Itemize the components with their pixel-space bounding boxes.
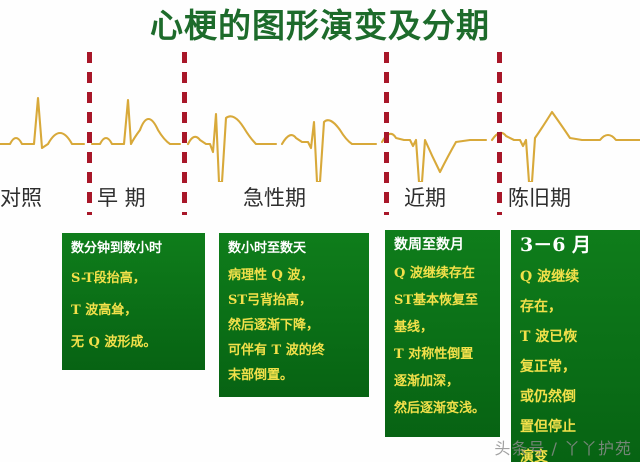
info-box-recent-line-1: Q 波继续存在 xyxy=(394,260,492,287)
stage-label-recent: 近期 xyxy=(404,185,446,211)
info-box-acute-line-1: 病理性 Q 波， xyxy=(228,263,361,288)
divider-acute-recent xyxy=(384,52,389,215)
info-box-early: 数分钟到数小时 S-T段抬高， T 波高耸， 无 Q 波形成。 xyxy=(62,233,205,370)
info-box-early-line-2: T 波高耸， xyxy=(71,295,197,327)
info-box-recent-line-2: ST基本恢复至 xyxy=(394,287,492,314)
info-box-recent-line-6: 然后逐渐变浅。 xyxy=(394,395,492,422)
stage-label-acute: 急性期 xyxy=(243,185,306,211)
info-box-old-line-2: 存在， xyxy=(520,292,632,322)
info-box-acute: 数小时至数天 病理性 Q 波， ST弓背抬高， 然后逐渐下降， 可伴有 T 波的… xyxy=(219,233,369,397)
page-title: 心梗的图形演变及分期 xyxy=(0,4,640,48)
info-box-recent-line-4: T 对称性倒置 xyxy=(394,341,492,368)
info-box-acute-line-4: 可伴有 T 波的终 xyxy=(228,338,361,363)
info-box-early-header: 数分钟到数小时 xyxy=(71,240,197,257)
info-box-recent: 数周至数月 Q 波继续存在 ST基本恢复至 基线， T 对称性倒置 逐渐加深， … xyxy=(385,230,500,437)
info-box-old-line-5: 或仍然倒 xyxy=(520,382,632,412)
info-box-acute-header: 数小时至数天 xyxy=(228,240,361,257)
watermark: 头条号 / 丫丫护苑 xyxy=(494,435,632,459)
stage-label-early: 早 期 xyxy=(97,185,146,211)
info-box-old-line-3: T 波已恢 xyxy=(520,322,632,352)
info-box-early-line-1: S-T段抬高， xyxy=(71,263,197,295)
info-box-acute-line-5: 末部倒置。 xyxy=(228,363,361,388)
info-box-early-line-3: 无 Q 波形成。 xyxy=(71,327,197,359)
ecg-waveform-svg xyxy=(0,52,640,182)
stage-label-old: 陈旧期 xyxy=(508,185,571,211)
info-box-old: 3－6 月 Q 波继续 存在， T 波已恢 复正常， 或仍然倒 置但停止 演变 xyxy=(511,230,640,462)
ecg-waveform-strip xyxy=(0,52,640,182)
info-box-recent-line-5: 逐渐加深， xyxy=(394,368,492,395)
divider-early-acute xyxy=(182,52,187,215)
info-box-acute-line-2: ST弓背抬高， xyxy=(228,288,361,313)
info-box-old-line-1: Q 波继续 xyxy=(520,262,632,292)
info-box-recent-line-3: 基线， xyxy=(394,314,492,341)
info-box-old-line-4: 复正常， xyxy=(520,352,632,382)
slide-root: 心梗的图形演变及分期 对照 早 期 急性期 近期 陈旧期 xyxy=(0,0,640,462)
info-box-old-header: 3－6 月 xyxy=(520,237,632,254)
divider-recent-old xyxy=(497,52,502,215)
stage-label-control: 对照 xyxy=(0,185,42,211)
info-box-acute-line-3: 然后逐渐下降， xyxy=(228,313,361,338)
divider-control-early xyxy=(87,52,92,215)
info-box-recent-header: 数周至数月 xyxy=(394,237,492,254)
